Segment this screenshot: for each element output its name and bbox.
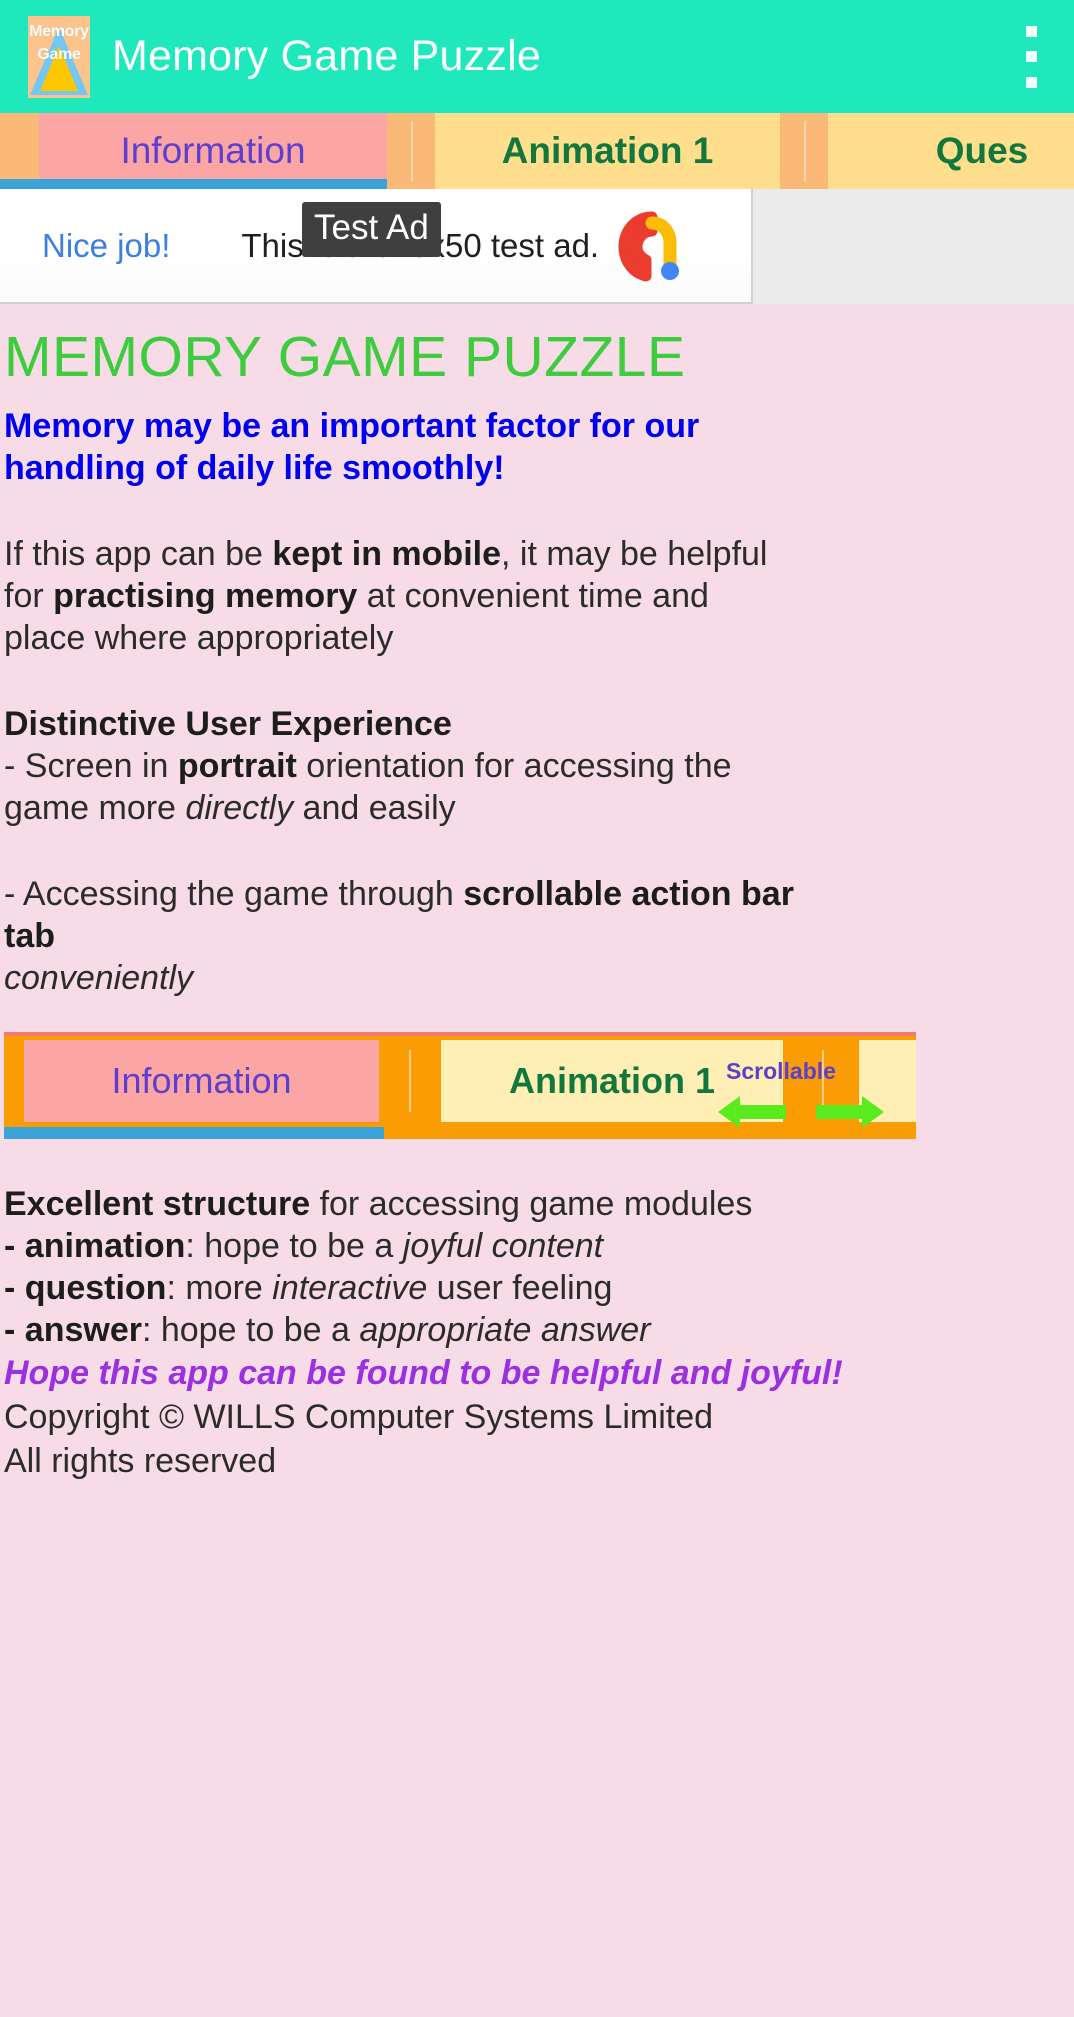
admob-logo-icon bbox=[615, 205, 689, 287]
tab-animation-1-label: Animation 1 bbox=[502, 130, 714, 172]
illustration-tab-information-label: Information bbox=[111, 1060, 291, 1102]
module-animation-dash: - bbox=[4, 1227, 25, 1265]
illustration-tab-information: Information bbox=[24, 1040, 379, 1122]
module-animation: - animation: hope to be a joyful content bbox=[4, 1225, 794, 1267]
overflow-dot-2 bbox=[1026, 51, 1037, 62]
page-subtitle: Memory may be an important factor for ou… bbox=[4, 405, 804, 489]
module-question-tail: user feeling bbox=[427, 1269, 612, 1307]
b2-italic-1: conveniently bbox=[4, 959, 193, 997]
module-question-mid: : more bbox=[166, 1269, 272, 1307]
memory-game-app-icon: Memory Game bbox=[28, 16, 90, 98]
scrollable-tab-illustration: Information Animation 1 Scrollable bbox=[4, 1032, 916, 1139]
module-animation-italic: joyful content bbox=[403, 1227, 603, 1265]
ad-banner-region: Nice job! This is a 320x50 test ad. Test… bbox=[0, 189, 1074, 304]
tab-animation-1[interactable]: Animation 1 bbox=[435, 113, 780, 189]
bullet-portrait-orientation: - Screen in portrait orientation for acc… bbox=[4, 745, 794, 829]
tab-selected-indicator bbox=[0, 179, 387, 189]
section-heading-user-experience: Distinctive User Experience bbox=[4, 703, 1070, 745]
app-bar: Memory Game Memory Game Puzzle bbox=[0, 0, 1074, 113]
tab-strip-leading-space bbox=[0, 113, 39, 189]
b1-italic-1: directly bbox=[185, 789, 293, 827]
information-content: MEMORY GAME PUZZLE Memory may be an impo… bbox=[0, 304, 1074, 2017]
icon-label-line2: Game bbox=[28, 46, 90, 64]
action-bar-tab-strip[interactable]: Information Animation 1 Ques bbox=[0, 113, 1074, 189]
p1-bold-2: practising memory bbox=[53, 577, 357, 615]
tab-divider-1 bbox=[387, 113, 435, 189]
module-answer-italic: appropriate answer bbox=[359, 1311, 650, 1349]
module-answer: - answer: hope to be a appropriate answe… bbox=[4, 1309, 794, 1351]
module-answer-bold: answer bbox=[25, 1311, 142, 1349]
icon-label-line1: Memory bbox=[28, 23, 90, 41]
arrow-left-icon bbox=[716, 1093, 788, 1131]
structure-line: Excellent structure for accessing game m… bbox=[4, 1183, 794, 1225]
closing-message: Hope this app can be found to be helpful… bbox=[4, 1351, 1070, 1395]
module-animation-mid: : hope to be a bbox=[185, 1227, 402, 1265]
module-question-dash: - bbox=[4, 1269, 25, 1307]
b1-text-1: - Screen in bbox=[4, 747, 178, 785]
copyright-line-1: Copyright © WILLS Computer Systems Limit… bbox=[4, 1395, 1070, 1439]
illustration-tab-indicator bbox=[4, 1127, 384, 1139]
module-question: - question: more interactive user feelin… bbox=[4, 1267, 794, 1309]
b1-text-3: and easily bbox=[293, 789, 456, 827]
page-title: MEMORY GAME PUZZLE bbox=[4, 304, 1070, 388]
tab-information-label: Information bbox=[120, 130, 305, 172]
overflow-menu-icon[interactable] bbox=[1019, 26, 1043, 88]
tab-question-label: Ques bbox=[936, 130, 1029, 172]
module-answer-mid: : hope to be a bbox=[142, 1311, 359, 1349]
bullet-scrollable-tab: - Accessing the game through scrollable … bbox=[4, 873, 794, 999]
paragraph-keep-in-mobile: If this app can be kept in mobile, it ma… bbox=[4, 533, 794, 659]
tab-divider-2 bbox=[780, 113, 828, 189]
illustration-tab-animation-1-label: Animation 1 bbox=[509, 1060, 715, 1102]
app-title: Memory Game Puzzle bbox=[112, 33, 541, 80]
scrollable-annotation-label: Scrollable bbox=[726, 1058, 836, 1085]
b1-bold-1: portrait bbox=[178, 747, 297, 785]
tab-information[interactable]: Information bbox=[39, 113, 387, 189]
ad-cta-text: Nice job! bbox=[42, 227, 170, 265]
module-answer-dash: - bbox=[4, 1311, 25, 1349]
structure-text: for accessing game modules bbox=[310, 1185, 752, 1223]
copyright-line-2: All rights reserved bbox=[4, 1439, 1070, 1483]
illustration-divider-1 bbox=[409, 1050, 411, 1112]
structure-bold: Excellent structure bbox=[4, 1185, 310, 1223]
module-question-italic: interactive bbox=[272, 1269, 427, 1307]
p1-bold-1: kept in mobile bbox=[272, 535, 501, 573]
arrow-right-icon bbox=[814, 1093, 886, 1131]
b2-text-1: - Accessing the game through bbox=[4, 875, 463, 913]
tab-question[interactable]: Ques bbox=[828, 113, 1074, 189]
overflow-dot-3 bbox=[1026, 77, 1037, 88]
p1-text-1: If this app can be bbox=[4, 535, 272, 573]
module-animation-bold: animation bbox=[25, 1227, 186, 1265]
module-question-bold: question bbox=[25, 1269, 167, 1307]
test-ad-badge: Test Ad bbox=[302, 202, 441, 257]
overflow-dot-1 bbox=[1026, 26, 1037, 37]
